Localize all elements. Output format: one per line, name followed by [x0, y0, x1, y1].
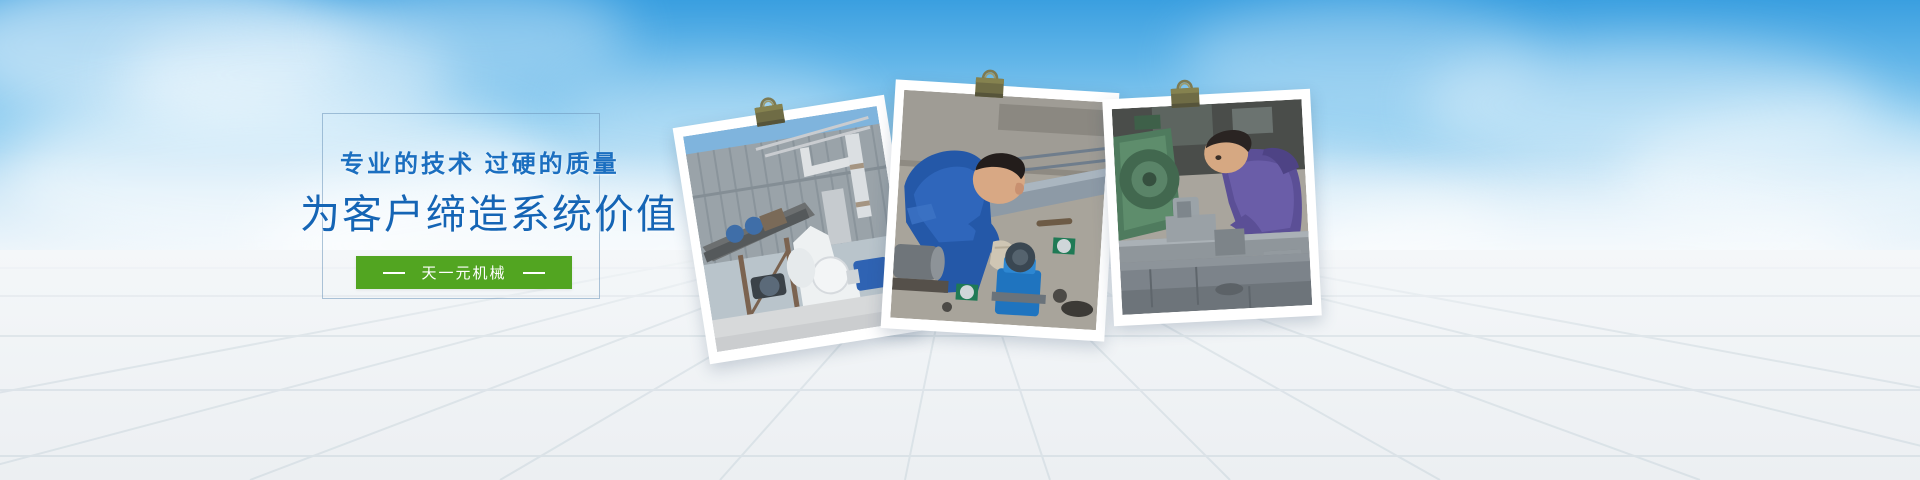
- photo-image-crushing-line: [683, 106, 911, 352]
- binder-clip-icon: [1167, 72, 1203, 119]
- photo-image-worker-assembling: [890, 90, 1110, 330]
- brand-cta-button[interactable]: 天一元机械: [356, 256, 572, 289]
- photo-image-worker-lathe: [1112, 99, 1313, 315]
- dash-right-icon: [523, 272, 545, 274]
- photo-card-worker-assembling[interactable]: [881, 79, 1120, 341]
- headline-block: 专业的技术 过硬的质量 为客户缔造系统价值 天一元机械: [322, 113, 602, 301]
- binder-clip-icon: [971, 62, 1008, 109]
- photo-gallery: [660, 0, 1360, 480]
- binder-clip-icon: [750, 88, 791, 138]
- photo-card-worker-lathe[interactable]: [1102, 89, 1322, 327]
- dash-left-icon: [383, 272, 405, 274]
- cta-label: 天一元机械: [421, 262, 506, 283]
- hero-banner: 专业的技术 过硬的质量 为客户缔造系统价值 天一元机械: [0, 0, 1920, 480]
